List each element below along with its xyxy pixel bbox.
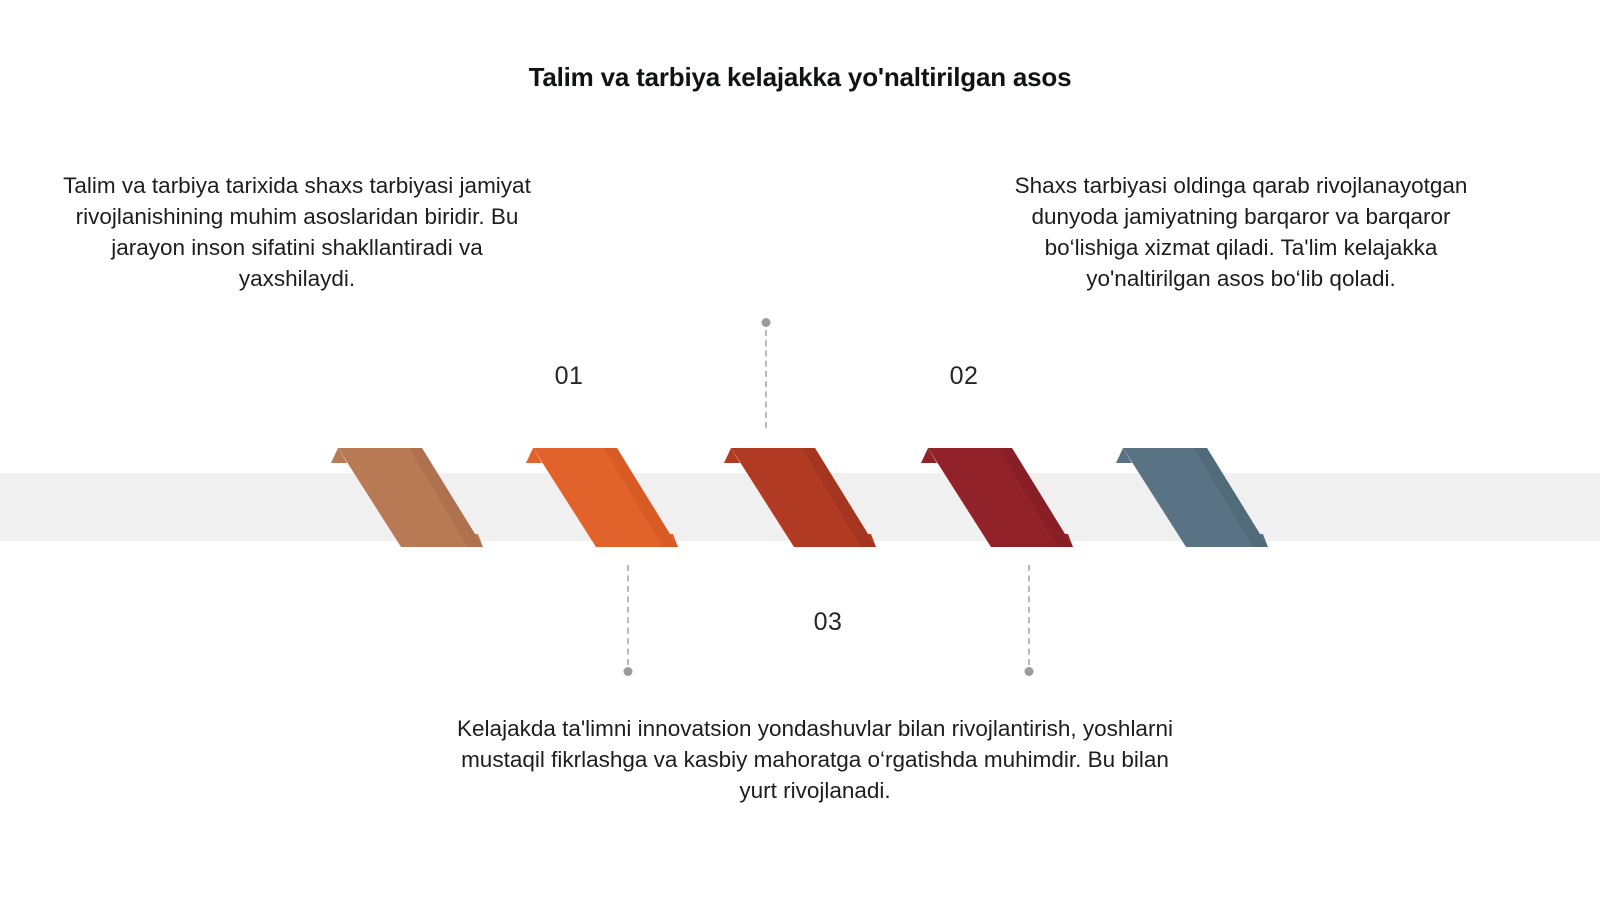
connector-dot [624, 667, 633, 676]
arrow-shape-2[interactable] [520, 430, 720, 565]
arrow-shape-4[interactable] [915, 430, 1115, 565]
step-number-02: 02 [924, 362, 1004, 391]
step-text-03: Kelajakda ta'limni innovatsion yondashuv… [455, 713, 1175, 806]
connector-step-03 [1017, 565, 1041, 680]
page-title: Talim va tarbiya kelajakka yo'naltirilga… [0, 62, 1600, 93]
connector-dot [762, 318, 771, 327]
connector-dot [1025, 667, 1034, 676]
infographic-canvas: Talim va tarbiya kelajakka yo'naltirilga… [0, 0, 1600, 900]
step-number-01: 01 [529, 362, 609, 391]
connector-step-01 [616, 565, 640, 680]
step-number-03: 03 [788, 608, 868, 637]
connector-dashed-line [765, 330, 767, 428]
connector-dashed-line [1028, 565, 1030, 665]
connector-step-02 [754, 318, 778, 430]
arrow-shape-5[interactable] [1110, 430, 1310, 565]
connector-dashed-line [627, 565, 629, 665]
arrow-shape-3[interactable] [718, 430, 918, 565]
arrow-strip [0, 430, 1600, 565]
step-text-01: Talim va tarbiya tarixida shaxs tarbiyas… [58, 170, 536, 294]
step-text-02: Shaxs tarbiyasi oldinga qarab rivojlanay… [1000, 170, 1482, 294]
arrow-shape-1[interactable] [325, 430, 525, 565]
